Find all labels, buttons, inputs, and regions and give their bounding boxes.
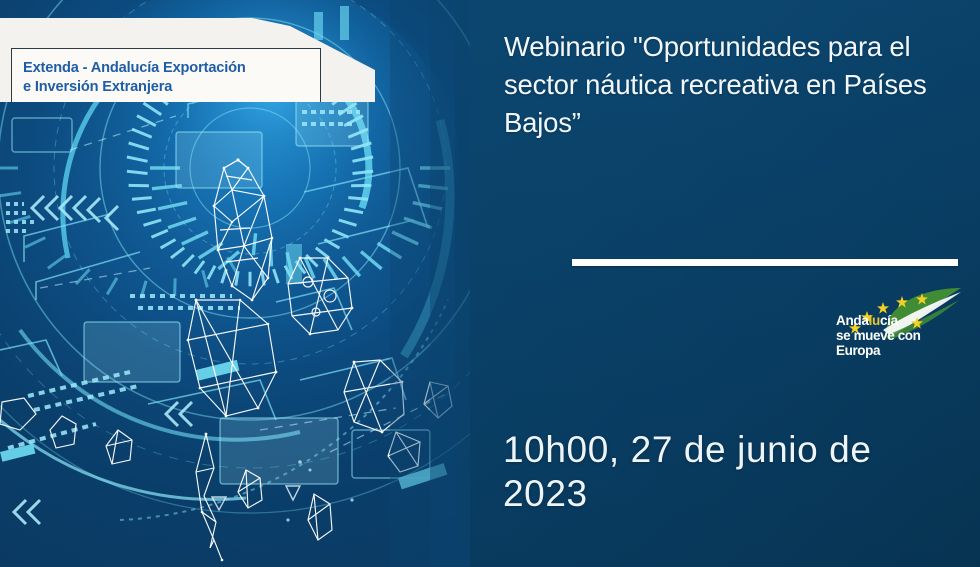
page-title-line-3: Bajos” — [504, 104, 956, 142]
page-title: Webinario "Oportunidades para el sector … — [504, 28, 956, 142]
page-title-line-2: sector náutica recreativa en Países — [504, 66, 956, 104]
horizontal-divider — [572, 259, 958, 266]
extenda-banner-line2: e Inversión Extranjera — [23, 78, 320, 97]
webinar-poster: Extenda - Andalucía Exportación e Invers… — [0, 0, 980, 567]
andalucia-logo-line2: se mueve con Europa — [836, 328, 964, 358]
andalucia-logo-text: Andalucía se mueve con Europa — [836, 314, 964, 358]
page-title-line-1: Webinario "Oportunidades para el — [504, 28, 956, 66]
event-datetime: 10h00, 27 de junio de 2023 — [503, 428, 963, 516]
andalucia-europa-logo: Andalucía se mueve con Europa — [833, 284, 965, 352]
extenda-banner-line1: Extenda - Andalucía Exportación — [23, 59, 320, 78]
andalucia-logo-line1: Andalucía — [836, 314, 964, 328]
extenda-banner-box: Extenda - Andalucía Exportación e Invers… — [11, 48, 321, 107]
